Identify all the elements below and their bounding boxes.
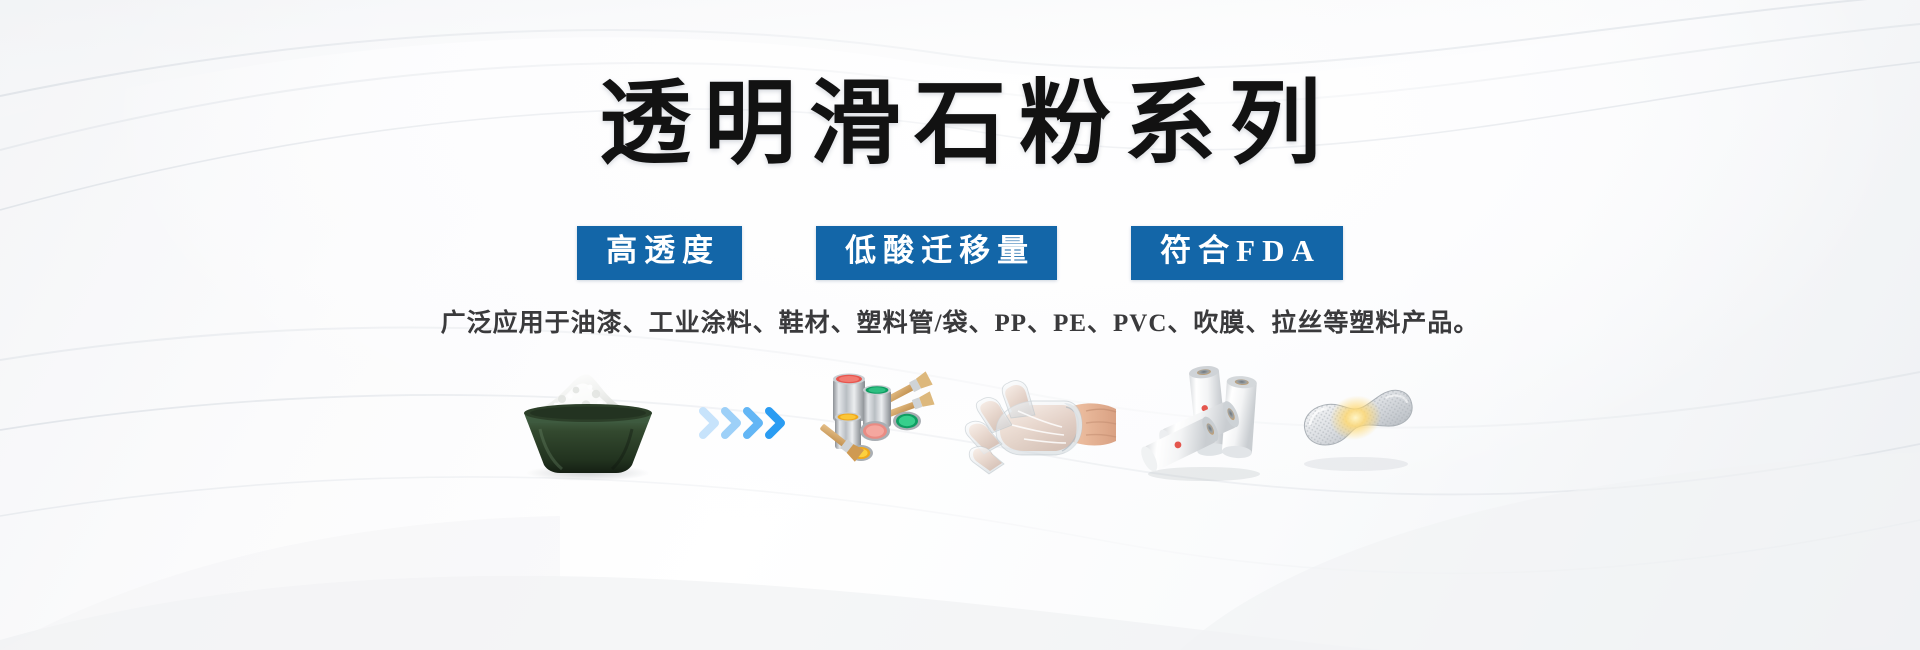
talc-powder-bowl-image [500,363,675,483]
feature-badge-low-acid-migration: 低酸迁移量 [816,226,1057,280]
application-description: 广泛应用于油漆、工业涂料、鞋材、塑料管/袋、PP、PE、PVC、吹膜、拉丝等塑料… [441,303,1480,339]
product-image-strip [0,358,1920,488]
paint-cans-image [819,363,944,483]
page-title: 透明滑石粉系列 [586,76,1334,173]
plastic-film-rolls-image [1138,364,1268,482]
feature-badge-fda-compliant: 符合FDA [1131,226,1343,280]
process-arrows-icon [697,393,797,453]
feature-badge-high-transparency: 高透度 [577,226,742,280]
shoe-sole-image [1290,368,1420,478]
product-banner: 透明滑石粉系列 高透度 低酸迁移量 符合FDA 广泛应用于油漆、工业涂料、鞋材、… [0,0,1920,650]
feature-badge-row: 高透度 低酸迁移量 符合FDA [0,226,1920,280]
gloved-hand-image [966,367,1116,479]
description-container: 广泛应用于油漆、工业涂料、鞋材、塑料管/袋、PP、PE、PVC、吹膜、拉丝等塑料… [0,303,1920,339]
title-container: 透明滑石粉系列 [0,76,1920,173]
